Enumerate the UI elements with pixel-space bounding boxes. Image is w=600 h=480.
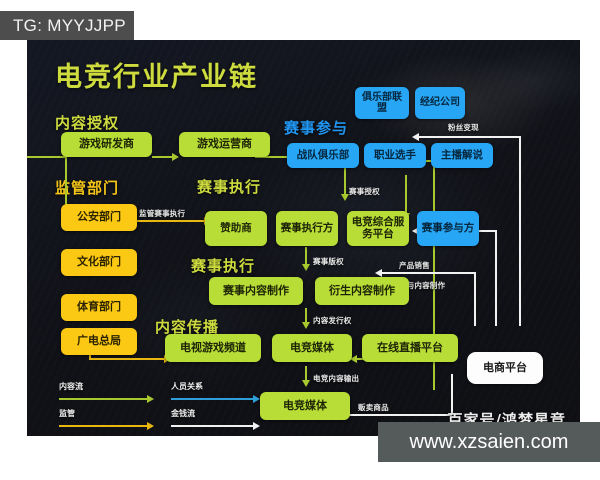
node-sports-dept[interactable]: 体育部门	[61, 294, 137, 321]
legend-arrow-money-flow	[253, 422, 260, 430]
edge-developer-to-operator	[152, 156, 172, 158]
edge-label-regulate-event-ops: 监管赛事执行	[139, 208, 185, 219]
arrowhead-fan-monetization	[412, 133, 419, 141]
node-team-club[interactable]: 战队俱乐部	[287, 143, 359, 168]
node-game-operator[interactable]: 游戏运营商	[179, 132, 270, 157]
legend-line-supervision	[59, 425, 147, 427]
node-esports-media-top[interactable]: 电竞媒体	[272, 334, 352, 362]
edge-label-event-copyright: 赛事版权	[313, 256, 344, 267]
node-tv-game-channel[interactable]: 电视游戏频道	[165, 334, 261, 362]
edge-content-supervision	[89, 358, 164, 360]
legend-label-money-flow: 金钱流	[171, 408, 195, 419]
node-esports-media-bottom[interactable]: 电竞媒体	[260, 392, 350, 420]
legend-line-people-relation	[171, 398, 253, 400]
node-club-alliance[interactable]: 俱乐部联盟	[355, 87, 409, 119]
legend-arrow-supervision	[147, 422, 154, 430]
arrowhead-developer-to-operator	[172, 153, 179, 161]
arrowhead-product-sales-lower	[375, 269, 382, 277]
section-header-event-ops-mid: 赛事执行	[191, 255, 255, 276]
node-pro-player[interactable]: 职业选手	[364, 143, 426, 168]
legend-label-supervision: 监管	[59, 408, 75, 419]
edge-label-product-sales-lower: 产品销售	[399, 260, 430, 271]
edge-product-sales-lower-horizontal	[382, 272, 474, 274]
node-online-live-platform[interactable]: 在线直播平台	[362, 334, 458, 362]
infographic-poster: 电竞行业产业链 内容授权 监管部门 赛事执行 赛事执行 内容传播 赛事参与 赛事…	[27, 40, 580, 436]
edge-esports-content-output	[305, 366, 307, 380]
node-streamer-caster[interactable]: 主播解说	[431, 143, 493, 168]
site-watermark: www.xzsaien.com	[378, 422, 600, 462]
arrowhead-event-authorization	[341, 194, 349, 201]
arrowhead-content-distribution	[302, 322, 310, 329]
edge-regulate-event-ops	[137, 220, 204, 222]
section-header-content-licensing: 内容授权	[55, 112, 119, 133]
section-header-event-participation: 赛事参与	[284, 117, 348, 138]
edge-label-event-authorization: 赛事授权	[349, 186, 380, 197]
edge-sell-goods-vertical	[451, 374, 453, 414]
node-public-security-dept[interactable]: 公安部门	[61, 204, 137, 231]
legend-arrow-content-flow	[147, 395, 154, 403]
edge-fan-monetization-vertical	[519, 136, 521, 326]
legend-label-content-flow: 内容流	[59, 381, 83, 392]
node-ecommerce-platform[interactable]: 电商平台	[467, 352, 543, 384]
legend-line-content-flow	[59, 398, 147, 400]
node-derivative-content-production[interactable]: 衍生内容制作	[315, 277, 409, 305]
legend-label-people-relation: 人员关系	[171, 381, 203, 392]
node-event-content-production[interactable]: 赛事内容制作	[209, 277, 303, 305]
edge-content-distribution	[305, 308, 307, 322]
edge-label-content-distribution: 内容发行权	[313, 315, 352, 326]
edge-fan-monetization-horizontal	[419, 136, 519, 138]
arrowhead-esports-content-output	[302, 380, 310, 387]
legend-line-money-flow	[171, 425, 253, 427]
edge-product-sales-lower-vertical	[474, 272, 476, 326]
node-culture-dept[interactable]: 文化部门	[61, 249, 137, 276]
node-event-participant[interactable]: 赛事参与方	[417, 211, 479, 246]
edge-label-fan-monetization: 粉丝变现	[448, 122, 479, 133]
node-agency-company[interactable]: 经纪公司	[415, 87, 465, 119]
edge-left-spine-in	[27, 156, 65, 158]
arrowhead-event-copyright	[302, 264, 310, 271]
section-header-event-ops-top: 赛事执行	[197, 176, 261, 197]
node-event-executor[interactable]: 赛事执行方	[276, 211, 338, 246]
edge-product-sales-upper-vertical	[495, 230, 497, 326]
node-sponsor[interactable]: 赞助商	[205, 211, 267, 246]
node-esports-service-platform[interactable]: 电竞综合服务平台	[347, 211, 409, 246]
edge-label-esports-content-output: 电竞内容输出	[313, 373, 359, 384]
node-sarft[interactable]: 广电总局	[61, 328, 137, 355]
edge-event-copyright	[305, 247, 307, 264]
legend-arrow-people-relation	[253, 395, 260, 403]
node-game-developer[interactable]: 游戏研发商	[61, 132, 152, 157]
telegram-watermark: TG: MYYJJPP	[0, 11, 134, 40]
edge-label-sell-goods: 贩卖商品	[358, 402, 389, 413]
page-title: 电竞行业产业链	[55, 55, 258, 94]
edge-streamer-down	[405, 175, 407, 213]
